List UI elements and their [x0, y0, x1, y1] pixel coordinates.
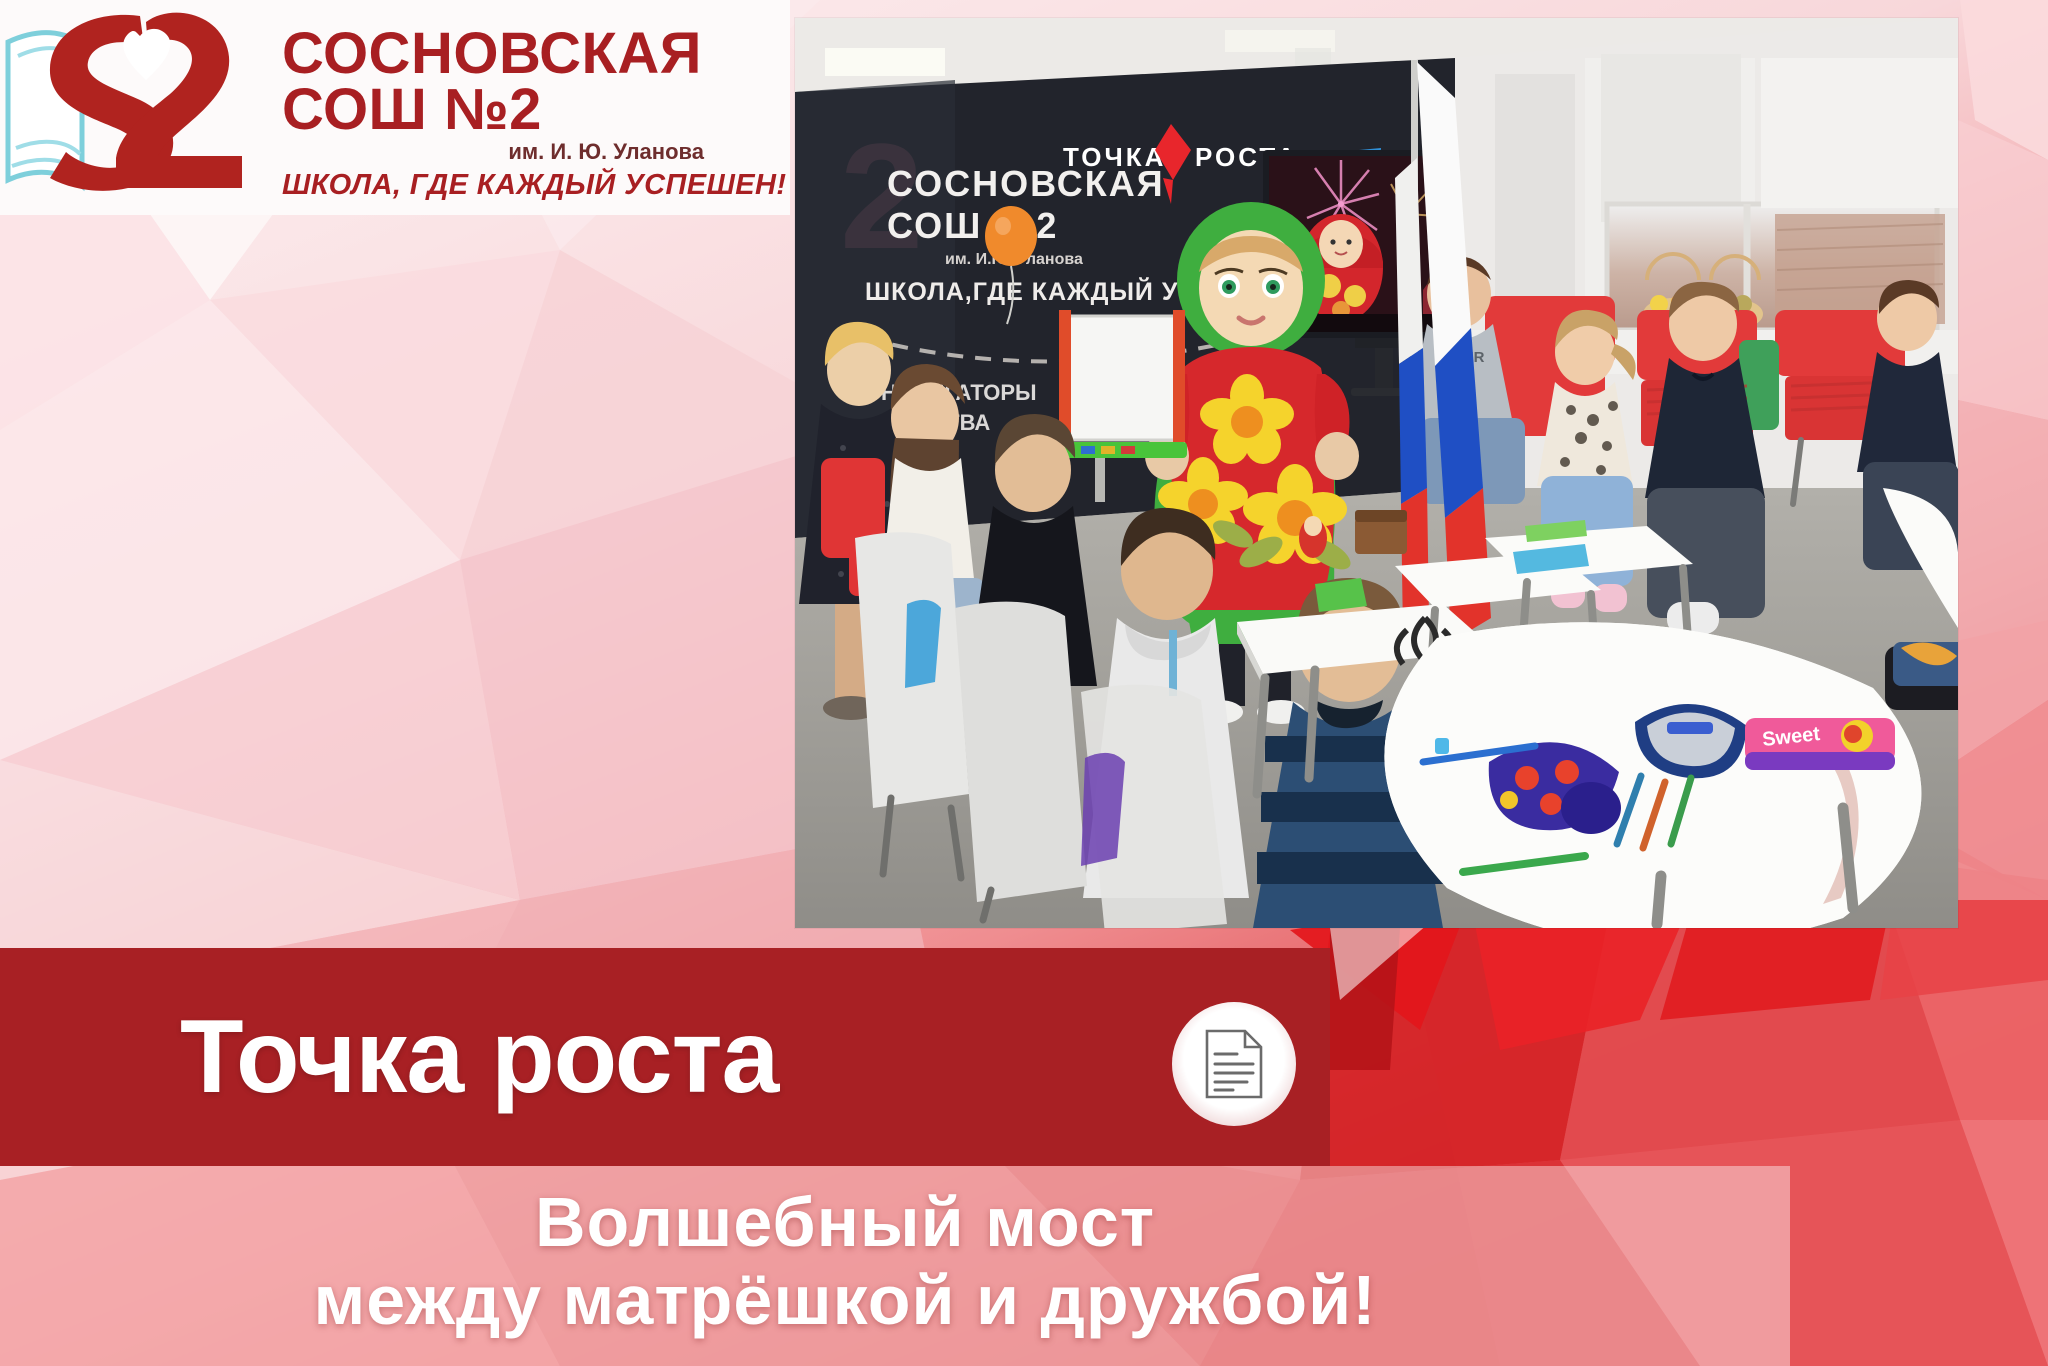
logo-line-3: им. И. Ю. Уланова: [282, 139, 782, 165]
s2-heart-monogram-icon: [28, 6, 268, 191]
logo-slogan: ШКОЛА, ГДЕ КАЖДЫЙ УСПЕШЕН!: [282, 169, 782, 202]
document-badge: [1172, 1002, 1296, 1126]
logo-line-1: СОСНОВСКАЯ: [282, 26, 782, 82]
school-logo-card: СОСНОВСКАЯ СОШ №2 им. И. Ю. Уланова ШКОЛ…: [0, 0, 790, 215]
banner-title: Точка роста: [180, 1005, 778, 1109]
subtitle-band: [0, 1166, 1790, 1366]
document-page-icon: [1203, 1028, 1265, 1100]
title-banner: Точка роста: [0, 948, 1330, 1166]
school-logo-text: СОСНОВСКАЯ СОШ №2 им. И. Ю. Уланова ШКОЛ…: [282, 26, 782, 202]
logo-line-2: СОШ №2: [282, 82, 782, 138]
classroom-photo-illustration: 2 СОСНОВСКАЯ СОШ №2 им. И.Ю. Уланова ШКО…: [795, 18, 1958, 928]
classroom-photo: 2 СОСНОВСКАЯ СОШ №2 им. И.Ю. Уланова ШКО…: [795, 18, 1958, 928]
svg-text:ТОЧКА: ТОЧКА: [1063, 142, 1166, 172]
slide-canvas: СОСНОВСКАЯ СОШ №2 им. И. Ю. Уланова ШКОЛ…: [0, 0, 2048, 1366]
